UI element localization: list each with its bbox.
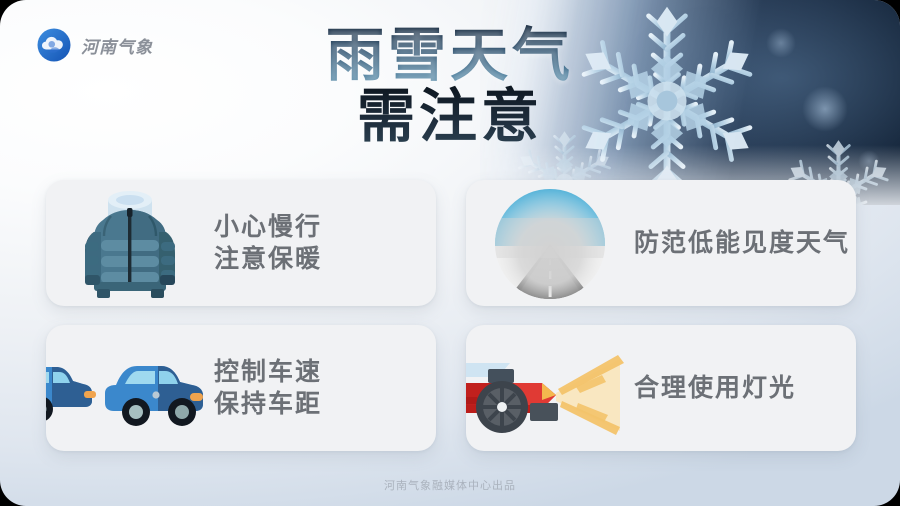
two-cars-icon (46, 325, 214, 451)
advice-line: 注意保暖 (214, 243, 322, 275)
advice-card-jacket[interactable]: 小心慢行 注意保暖 (46, 180, 436, 306)
advice-line: 保持车距 (214, 388, 322, 420)
advice-card-car-distance-text: 控制车速 保持车距 (214, 356, 322, 420)
advice-line: 防范低能见度天气 (634, 227, 850, 259)
cloud-logo-icon (36, 27, 72, 63)
advice-card-car-distance[interactable]: 控制车速 保持车距 (46, 325, 436, 451)
advice-line: 合理使用灯光 (634, 372, 796, 404)
poster-root: 河南气象 雨雪天气 需注意 (0, 0, 900, 506)
advice-card-headlights-text: 合理使用灯光 (634, 372, 796, 404)
brand-logo: 河南气象 (36, 27, 153, 63)
advice-card-low-visibility-text: 防范低能见度天气 (634, 227, 850, 259)
advice-line: 控制车速 (214, 356, 322, 388)
footer-credit: 河南气象融媒体中心出品 (0, 477, 900, 493)
snowflake-hero (480, 0, 900, 205)
advice-card-jacket-text: 小心慢行 注意保暖 (214, 211, 322, 275)
brand-name: 河南气象 (81, 33, 153, 58)
puffer-jacket-icon (46, 180, 214, 306)
advice-card-headlights[interactable]: 合理使用灯光 (466, 325, 856, 451)
car-headlight-icon (466, 325, 634, 451)
advice-line: 小心慢行 (214, 211, 322, 243)
advice-card-low-visibility[interactable]: 防范低能见度天气 (466, 180, 856, 306)
foggy-road-icon (466, 180, 634, 306)
advice-card-grid: 小心慢行 注意保暖 (46, 180, 856, 451)
